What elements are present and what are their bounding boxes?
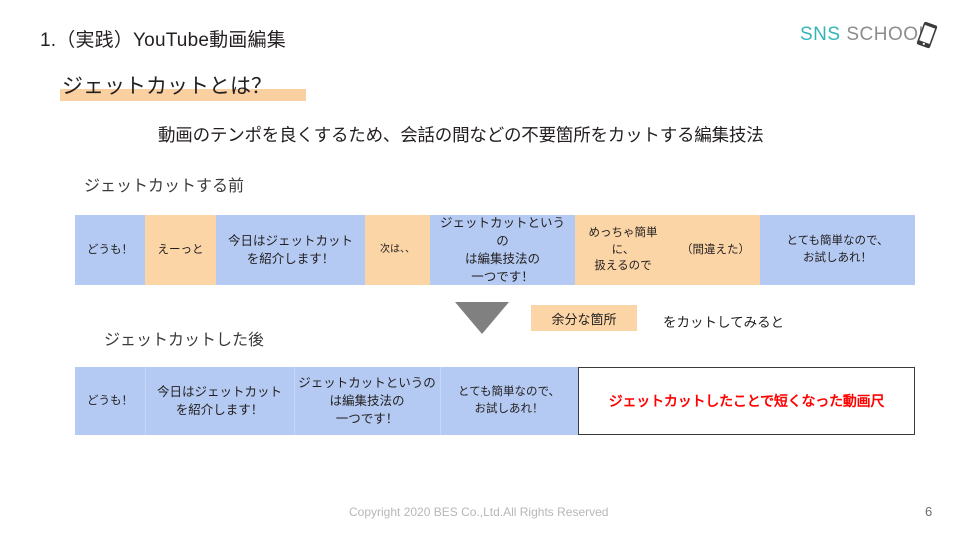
timeline-clip[interactable]: どうも！ <box>75 367 145 435</box>
timeline-clip[interactable]: とても簡単なので、 お試しあれ！ <box>760 215 915 285</box>
result-callout-box: ジェットカットしたことで短くなった動画尺 <box>578 367 915 435</box>
before-row-label: ジェットカットする前 <box>84 172 244 196</box>
timeline-clip[interactable]: めっちゃ簡単 に、 扱えるので <box>575 215 671 285</box>
timeline-clip-label: とても簡単なので、 お試しあれ！ <box>786 233 888 266</box>
timeline-clip-label: とても簡単なので、 お試しあれ！ <box>458 384 560 417</box>
timeline-clip-label: ジェットカットというの は編集技法の 一つです！ <box>434 215 571 285</box>
timeline-clip-label: どうも！ <box>87 242 133 259</box>
after-row-label: ジェットカットした後 <box>104 326 264 350</box>
footer-copyright: Copyright 2020 BES Co.,Ltd.All Rights Re… <box>349 505 608 519</box>
section-title: ジェットカットとは？ <box>60 70 274 100</box>
timeline-clip[interactable]: 今日はジェットカット を紹介します！ <box>216 215 365 285</box>
timeline-clip-label: ジェットカットというの は編集技法の 一つです！ <box>298 374 436 428</box>
timeline-clip-label: どうも！ <box>87 393 133 410</box>
timeline-clip[interactable]: 今日はジェットカット を紹介します！ <box>145 367 294 435</box>
slide-heading: 1.（実践）YouTube動画編集 <box>40 25 286 52</box>
lead-text: 動画のテンポを良くするため、会話の間などの不要箇所をカットする編集技法 <box>158 122 764 147</box>
timeline-clip-label: 今日はジェットカット を紹介します！ <box>228 232 353 268</box>
timeline-clip[interactable]: ジェットカットというの は編集技法の 一つです！ <box>430 215 575 285</box>
timeline-after: どうも！今日はジェットカット を紹介します！ジェットカットというの は編集技法の… <box>75 367 578 435</box>
timeline-clip[interactable]: どうも！ <box>75 215 145 285</box>
slide-canvas: SNS SCHOOL 1.（実践）YouTube動画編集 ジェットカットとは？ … <box>0 0 960 540</box>
timeline-clip[interactable]: えーっと <box>145 215 216 285</box>
logo-wordmark: SNS SCHOOL <box>800 24 930 46</box>
timeline-clip-label: 次は、、 <box>380 243 415 258</box>
timeline-clip-label: （間違えた） <box>681 242 750 259</box>
cut-note-text: をカットしてみると <box>663 311 784 331</box>
footer-page-number: 6 <box>925 504 932 519</box>
section-title-wrap: ジェットカットとは？ <box>60 70 274 104</box>
timeline-clip[interactable]: 次は、、 <box>365 215 430 285</box>
phone-tilted-icon <box>914 21 940 49</box>
excess-segment-chip: 余分な箇所 <box>531 305 637 331</box>
triangle-down-icon <box>455 302 509 334</box>
result-callout-text: ジェットカットしたことで短くなった動画尺 <box>609 391 885 411</box>
timeline-clip[interactable]: （間違えた） <box>671 215 760 285</box>
excess-segment-label: 余分な箇所 <box>551 309 616 328</box>
timeline-clip[interactable]: ジェットカットというの は編集技法の 一つです！ <box>294 367 440 435</box>
timeline-clip-label: 今日はジェットカット を紹介します！ <box>157 383 282 419</box>
timeline-clip[interactable]: とても簡単なので、 お試しあれ！ <box>440 367 578 435</box>
timeline-clip-label: えーっと <box>158 242 204 259</box>
brand-logo: SNS SCHOOL <box>800 20 940 50</box>
timeline-before: どうも！えーっと今日はジェットカット を紹介します！次は、、ジェットカットという… <box>75 215 915 285</box>
timeline-clip-label: めっちゃ簡単 に、 扱えるので <box>589 225 658 275</box>
logo-text-sns: SNS <box>800 24 841 45</box>
